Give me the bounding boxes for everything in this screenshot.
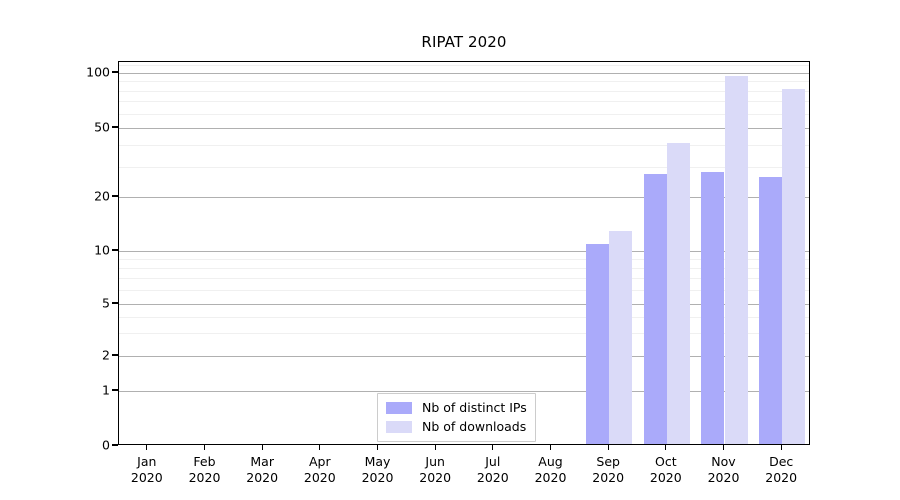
- y-tick-mark: [112, 249, 118, 250]
- x-tick-label-month: Dec: [765, 454, 797, 470]
- x-tick-mark: [781, 445, 782, 450]
- x-tick-mark: [723, 445, 724, 450]
- x-tick-mark: [262, 445, 263, 450]
- legend-label-downloads: Nb of downloads: [422, 419, 526, 434]
- gridline-minor: [119, 81, 809, 82]
- y-tick-label: 0: [60, 438, 110, 453]
- bar-distinct-ips-nov: [701, 172, 724, 445]
- legend-swatch-icon-downloads: [386, 421, 412, 433]
- x-tick-label-year: 2020: [477, 470, 509, 486]
- bar-distinct-ips-dec: [759, 177, 782, 445]
- x-tick-label: Jun2020: [419, 454, 451, 485]
- x-tick-label-year: 2020: [419, 470, 451, 486]
- x-tick-label-month: Sep: [592, 454, 624, 470]
- x-tick-label-month: Nov: [708, 454, 740, 470]
- x-tick-label-month: Jun: [419, 454, 451, 470]
- y-tick-mark: [112, 444, 118, 445]
- x-tick-label: Sep2020: [592, 454, 624, 485]
- gridline-minor: [119, 91, 809, 92]
- y-tick-mark: [112, 195, 118, 196]
- x-tick-label-year: 2020: [650, 470, 682, 486]
- x-tick-label-year: 2020: [304, 470, 336, 486]
- chart-legend[interactable]: Nb of distinct IPs Nb of downloads: [377, 393, 536, 442]
- x-tick-label-year: 2020: [189, 470, 221, 486]
- x-tick-label: Apr2020: [304, 454, 336, 485]
- x-tick-label-year: 2020: [592, 470, 624, 486]
- x-tick-mark: [608, 445, 609, 450]
- x-tick-label-year: 2020: [708, 470, 740, 486]
- bar-downloads-oct: [667, 143, 690, 445]
- x-tick-mark: [550, 445, 551, 450]
- x-tick-mark: [377, 445, 378, 450]
- y-tick-label: 20: [60, 189, 110, 204]
- plot-inner: [119, 62, 809, 444]
- x-tick-label-year: 2020: [246, 470, 278, 486]
- y-tick-label: 100: [60, 65, 110, 80]
- x-tick-label: Jan2020: [131, 454, 163, 485]
- y-tick-label: 2: [60, 348, 110, 363]
- legend-label-distinct-ips: Nb of distinct IPs: [422, 400, 527, 415]
- x-tick-label-month: Aug: [535, 454, 567, 470]
- x-tick-label: Mar2020: [246, 454, 278, 485]
- y-tick-label: 10: [60, 243, 110, 258]
- x-tick-mark: [204, 445, 205, 450]
- x-tick-label-year: 2020: [131, 470, 163, 486]
- y-tick-label: 50: [60, 120, 110, 135]
- y-tick-mark: [112, 302, 118, 303]
- gridline-minor: [119, 114, 809, 115]
- gridline-minor: [119, 167, 809, 168]
- x-tick-label-year: 2020: [765, 470, 797, 486]
- y-tick-mark: [112, 126, 118, 127]
- gridline-major: [119, 73, 809, 74]
- x-tick-label-month: May: [362, 454, 394, 470]
- bar-downloads-sep: [609, 231, 632, 445]
- gridline-minor: [119, 101, 809, 102]
- x-tick-mark: [435, 445, 436, 450]
- y-tick-label: 1: [60, 383, 110, 398]
- bar-downloads-nov: [725, 76, 748, 445]
- chart-figure: RIPAT 2020 0125102050100 Jan2020Feb2020M…: [0, 0, 900, 500]
- x-tick-label: Jul2020: [477, 454, 509, 485]
- x-tick-mark: [665, 445, 666, 450]
- x-tick-label-month: Jan: [131, 454, 163, 470]
- x-tick-label: Oct2020: [650, 454, 682, 485]
- x-tick-label-month: Feb: [189, 454, 221, 470]
- legend-swatch-icon-distinct-ips: [386, 402, 412, 414]
- x-tick-label: Nov2020: [708, 454, 740, 485]
- x-tick-label-year: 2020: [535, 470, 567, 486]
- x-tick-label: Feb2020: [189, 454, 221, 485]
- legend-item-distinct-ips[interactable]: Nb of distinct IPs: [386, 399, 527, 416]
- y-tick-mark: [112, 71, 118, 72]
- gridline-major: [119, 128, 809, 129]
- plot-area: [118, 61, 810, 445]
- x-tick-label-month: Apr: [304, 454, 336, 470]
- x-tick-mark: [146, 445, 147, 450]
- bar-distinct-ips-sep: [586, 244, 609, 445]
- x-tick-label-year: 2020: [362, 470, 394, 486]
- x-tick-mark: [492, 445, 493, 450]
- x-tick-label-month: Oct: [650, 454, 682, 470]
- x-tick-label: May2020: [362, 454, 394, 485]
- y-tick-label: 5: [60, 296, 110, 311]
- legend-item-downloads[interactable]: Nb of downloads: [386, 418, 527, 435]
- gridline-minor: [119, 145, 809, 146]
- x-tick-label-month: Jul: [477, 454, 509, 470]
- chart-title: RIPAT 2020: [118, 33, 810, 51]
- x-tick-label-month: Mar: [246, 454, 278, 470]
- x-tick-label: Aug2020: [535, 454, 567, 485]
- bar-distinct-ips-oct: [644, 174, 667, 445]
- y-tick-mark: [112, 354, 118, 355]
- x-tick-label: Dec2020: [765, 454, 797, 485]
- bar-downloads-dec: [782, 89, 805, 445]
- gridline-minor: [119, 65, 809, 66]
- x-tick-mark: [319, 445, 320, 450]
- y-tick-mark: [112, 389, 118, 390]
